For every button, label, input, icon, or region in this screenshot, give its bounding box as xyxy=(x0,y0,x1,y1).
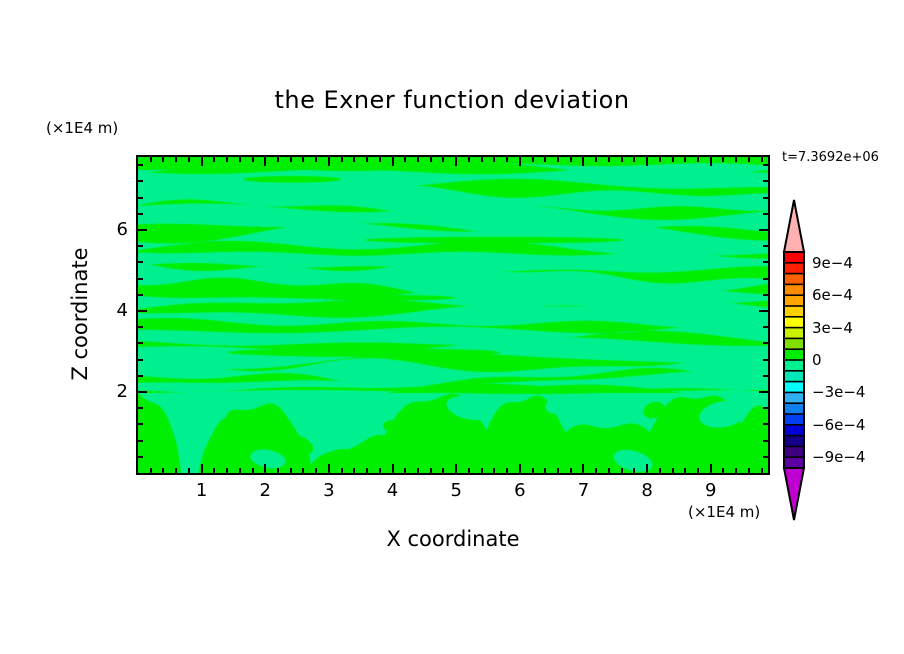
y-axis-tick xyxy=(763,423,768,425)
x-axis-tick xyxy=(710,464,712,473)
x-axis-tick xyxy=(201,464,203,473)
x-axis-tick xyxy=(392,464,394,473)
y-axis-tick xyxy=(138,278,143,280)
y-axis-tick xyxy=(763,326,768,328)
x-axis-tick xyxy=(341,157,343,162)
colorbar-band xyxy=(784,371,804,382)
y-tick-label: 2 xyxy=(88,381,128,402)
x-axis-tick xyxy=(417,157,419,162)
y-axis-tick xyxy=(138,359,143,361)
x-axis-tick xyxy=(570,157,572,162)
y-axis-tick xyxy=(138,391,147,393)
x-axis-tick xyxy=(175,157,177,162)
y-axis-tick xyxy=(763,213,768,215)
x-axis-tick xyxy=(442,157,444,162)
x-axis-tick xyxy=(633,468,635,473)
x-axis-tick xyxy=(328,464,330,473)
y-axis-tick xyxy=(138,180,143,182)
y-axis-tick xyxy=(759,391,768,393)
x-axis-tick xyxy=(761,157,763,162)
x-axis-tick xyxy=(735,157,737,162)
x-axis-tick xyxy=(252,157,254,162)
x-axis-tick xyxy=(659,157,661,162)
y-axis-tick xyxy=(763,197,768,199)
colorbar-band xyxy=(784,414,804,425)
x-axis-tick xyxy=(366,157,368,162)
x-axis-tick xyxy=(315,157,317,162)
y-axis-tick xyxy=(763,245,768,247)
colorbar-band xyxy=(784,436,804,447)
colorbar-band xyxy=(784,403,804,414)
contour-field-canvas xyxy=(138,157,768,473)
x-axis-tick xyxy=(277,468,279,473)
x-tick-label: 8 xyxy=(627,480,667,501)
x-axis-title: X coordinate xyxy=(136,527,770,551)
y-axis-tick xyxy=(138,294,143,296)
y-axis-tick xyxy=(763,375,768,377)
x-axis-tick xyxy=(761,468,763,473)
y-axis-tick xyxy=(763,261,768,263)
x-axis-tick xyxy=(684,157,686,162)
x-tick-label: 9 xyxy=(691,480,731,501)
y-axis-tick xyxy=(138,407,143,409)
y-axis-tick xyxy=(138,423,143,425)
x-axis-tick xyxy=(672,468,674,473)
x-axis-tick xyxy=(646,464,648,473)
x-axis-tick xyxy=(608,157,610,162)
x-axis-tick xyxy=(608,468,610,473)
x-axis-tick xyxy=(150,468,152,473)
x-axis-tick xyxy=(646,157,648,166)
x-axis-tick xyxy=(672,157,674,162)
x-axis-tick xyxy=(621,468,623,473)
x-axis-tick xyxy=(455,157,457,166)
colorbar-under-arrow xyxy=(784,468,804,520)
contour-plot-panel xyxy=(136,155,770,475)
x-axis-tick xyxy=(442,468,444,473)
colorbar-band xyxy=(784,274,804,285)
colorbar-band xyxy=(784,328,804,339)
colorbar xyxy=(781,196,807,524)
x-axis-tick xyxy=(659,468,661,473)
y-axis-tick xyxy=(138,375,143,377)
x-axis-tick xyxy=(684,468,686,473)
colorbar-band xyxy=(784,263,804,274)
x-axis-tick xyxy=(264,157,266,166)
x-axis-tick xyxy=(621,157,623,162)
y-axis-tick xyxy=(138,326,143,328)
x-axis-tick xyxy=(328,157,330,166)
x-axis-tick xyxy=(353,157,355,162)
x-axis-tick xyxy=(722,468,724,473)
colorbar-tick-label: 3e−4 xyxy=(812,319,853,337)
colorbar-band xyxy=(784,284,804,295)
x-axis-tick xyxy=(379,468,381,473)
y-axis-tick xyxy=(138,310,147,312)
x-tick-label: 5 xyxy=(436,480,476,501)
colorbar-band xyxy=(784,446,804,457)
y-axis-tick xyxy=(138,245,143,247)
colorbar-band xyxy=(784,392,804,403)
x-axis-tick xyxy=(302,157,304,162)
x-axis-tick xyxy=(264,464,266,473)
x-axis-tick xyxy=(290,157,292,162)
x-axis-tick xyxy=(532,468,534,473)
x-axis-tick xyxy=(188,157,190,162)
y-axis-tick xyxy=(763,278,768,280)
x-axis-tick xyxy=(252,468,254,473)
x-tick-label: 6 xyxy=(500,480,540,501)
x-axis-tick xyxy=(468,157,470,162)
colorbar-tick-label: −9e−4 xyxy=(812,448,865,466)
x-axis-tick xyxy=(582,464,584,473)
time-annotation: t=7.3692e+06 xyxy=(782,150,879,165)
x-axis-tick xyxy=(290,468,292,473)
y-axis-tick xyxy=(759,310,768,312)
y-axis-tick xyxy=(763,456,768,458)
x-axis-tick xyxy=(430,468,432,473)
y-axis-tick xyxy=(763,180,768,182)
x-axis-tick xyxy=(213,157,215,162)
x-axis-tick xyxy=(493,157,495,162)
x-axis-tick xyxy=(532,157,534,162)
y-tick-label: 6 xyxy=(88,219,128,240)
colorbar-band xyxy=(784,317,804,328)
contour-plot-figure: the Exner function deviation (×1E4 m) t=… xyxy=(0,0,904,654)
colorbar-tick-label: −6e−4 xyxy=(812,416,865,434)
colorbar-band xyxy=(784,252,804,263)
x-axis-tick xyxy=(404,157,406,162)
x-axis-tick xyxy=(748,157,750,162)
x-axis-tick xyxy=(506,468,508,473)
x-axis-tick xyxy=(595,157,597,162)
x-axis-tick xyxy=(315,468,317,473)
x-axis-tick xyxy=(557,468,559,473)
y-axis-unit-label: (×1E4 m) xyxy=(46,119,118,137)
y-axis-tick xyxy=(763,294,768,296)
x-axis-unit-label: (×1E4 m) xyxy=(688,503,760,521)
x-axis-tick xyxy=(697,468,699,473)
x-axis-tick xyxy=(162,157,164,162)
x-axis-tick xyxy=(481,157,483,162)
x-axis-tick xyxy=(697,157,699,162)
colorbar-band xyxy=(784,382,804,393)
colorbar-tick-label: 9e−4 xyxy=(812,254,853,272)
colorbar-band xyxy=(784,425,804,436)
x-axis-tick xyxy=(455,464,457,473)
x-axis-tick xyxy=(493,468,495,473)
x-axis-tick xyxy=(735,468,737,473)
x-axis-tick xyxy=(226,157,228,162)
x-axis-tick xyxy=(710,157,712,166)
colorbar-band xyxy=(784,360,804,371)
x-axis-tick xyxy=(353,468,355,473)
x-tick-label: 1 xyxy=(182,480,222,501)
x-axis-tick xyxy=(570,468,572,473)
y-axis-tick xyxy=(138,197,143,199)
x-tick-label: 7 xyxy=(563,480,603,501)
x-axis-tick xyxy=(366,468,368,473)
x-axis-tick xyxy=(302,468,304,473)
x-axis-tick xyxy=(544,468,546,473)
colorbar-tick-label: 0 xyxy=(812,351,822,369)
x-axis-tick xyxy=(722,157,724,162)
colorbar-band xyxy=(784,457,804,468)
colorbar-tick-label: 6e−4 xyxy=(812,286,853,304)
y-axis-tick xyxy=(138,456,143,458)
y-axis-tick xyxy=(763,407,768,409)
page-title: the Exner function deviation xyxy=(0,86,904,114)
x-axis-tick xyxy=(506,157,508,162)
y-axis-tick xyxy=(763,359,768,361)
x-axis-tick xyxy=(188,468,190,473)
colorbar-svg xyxy=(781,196,807,524)
y-axis-tick xyxy=(138,164,143,166)
y-axis-tick xyxy=(763,342,768,344)
y-axis-tick xyxy=(138,261,143,263)
x-tick-label: 3 xyxy=(309,480,349,501)
x-axis-tick xyxy=(239,157,241,162)
x-axis-tick xyxy=(341,468,343,473)
y-axis-tick xyxy=(138,440,143,442)
x-axis-tick xyxy=(239,468,241,473)
x-axis-tick xyxy=(162,468,164,473)
x-axis-tick xyxy=(468,468,470,473)
x-axis-tick xyxy=(481,468,483,473)
x-axis-tick xyxy=(557,157,559,162)
colorbar-band xyxy=(784,338,804,349)
x-axis-tick xyxy=(519,464,521,473)
y-axis-tick xyxy=(138,229,147,231)
y-axis-tick xyxy=(763,164,768,166)
y-axis-tick xyxy=(138,342,143,344)
colorbar-tick-label: −3e−4 xyxy=(812,383,865,401)
x-axis-tick xyxy=(150,157,152,162)
x-axis-tick xyxy=(277,157,279,162)
x-axis-tick xyxy=(748,468,750,473)
colorbar-band xyxy=(784,306,804,317)
x-axis-tick xyxy=(582,157,584,166)
x-axis-tick xyxy=(213,468,215,473)
y-axis-tick xyxy=(138,213,143,215)
x-axis-tick xyxy=(392,157,394,166)
x-tick-label: 2 xyxy=(245,480,285,501)
colorbar-band xyxy=(784,295,804,306)
x-axis-tick xyxy=(404,468,406,473)
x-axis-tick xyxy=(226,468,228,473)
x-tick-label: 4 xyxy=(373,480,413,501)
x-axis-tick xyxy=(544,157,546,162)
x-axis-tick xyxy=(201,157,203,166)
y-axis-tick xyxy=(763,440,768,442)
x-axis-tick xyxy=(595,468,597,473)
colorbar-over-arrow xyxy=(784,200,804,252)
colorbar-band xyxy=(784,349,804,360)
x-axis-tick xyxy=(175,468,177,473)
y-tick-label: 4 xyxy=(88,300,128,321)
x-axis-tick xyxy=(519,157,521,166)
x-axis-tick xyxy=(379,157,381,162)
x-axis-tick xyxy=(633,157,635,162)
x-axis-tick xyxy=(417,468,419,473)
x-axis-tick xyxy=(430,157,432,162)
y-axis-tick xyxy=(759,229,768,231)
